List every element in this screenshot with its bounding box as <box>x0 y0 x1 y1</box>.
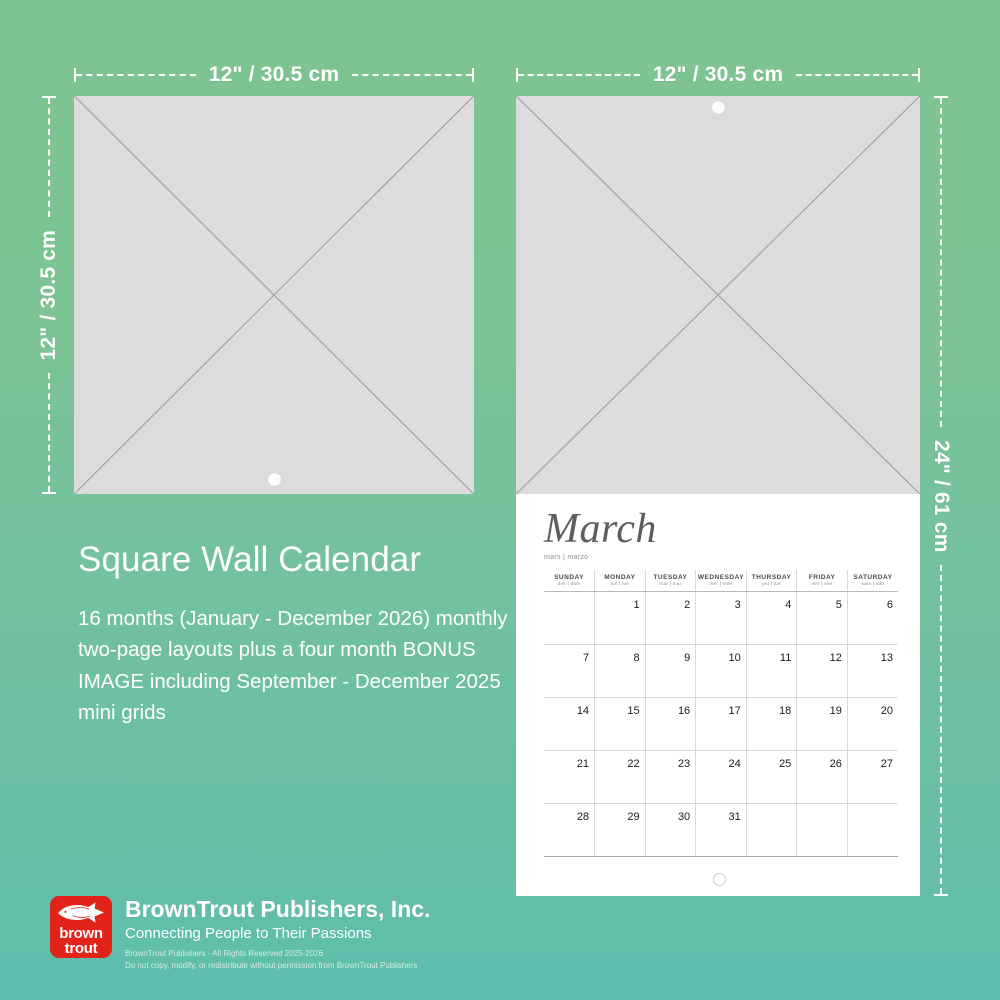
day-number: 27 <box>881 758 893 770</box>
dimension-right-panel-height: 24" / 61 cm <box>928 96 954 896</box>
punch-hole-icon <box>713 102 724 113</box>
page-title: Square Wall Calendar <box>78 540 421 580</box>
calendar-month-name: March <box>544 508 898 550</box>
calendar-weekday-header-row: SUNDAY dim | dom MONDAY lun | lun TUESDA… <box>544 570 898 592</box>
browntrout-logo: brown trout <box>50 896 112 958</box>
company-name: BrownTrout Publishers, Inc. <box>125 897 430 923</box>
weekday-subtitle: jeu | jue <box>747 582 797 588</box>
dimension-left-panel-width-label: 12" / 30.5 cm <box>196 63 352 87</box>
day-number: 28 <box>577 811 589 823</box>
dimension-dash-top <box>48 98 50 217</box>
calendar-day-cell: 15 <box>595 698 646 751</box>
day-number: 6 <box>887 599 893 611</box>
dimension-dash-left <box>76 74 196 76</box>
dimension-left-panel-height-label: 12" / 30.5 cm <box>37 217 61 373</box>
day-number: 5 <box>836 599 842 611</box>
calendar-day-cell: 4 <box>746 592 797 645</box>
day-number: 1 <box>634 599 640 611</box>
calendar-day-cell: 12 <box>797 645 848 698</box>
dimension-cap-bottom <box>934 894 948 896</box>
calendar-day-cell: 22 <box>595 751 646 804</box>
footer-branding: brown trout BrownTrout Publishers, Inc. … <box>50 896 430 971</box>
calendar-weekday-header: SUNDAY dim | dom <box>544 570 595 592</box>
weekday-name: SUNDAY <box>544 574 594 582</box>
day-number: 11 <box>780 652 791 664</box>
day-number: 15 <box>627 705 639 717</box>
calendar-day-cell: 25 <box>746 751 797 804</box>
calendar-week-row: 1 2 3 4 5 6 <box>544 592 898 645</box>
left-page-preview <box>74 96 474 494</box>
calendar-weekday-header: FRIDAY ven | vier <box>797 570 848 592</box>
calendar-day-cell: 26 <box>797 751 848 804</box>
trout-fish-svg <box>55 901 107 924</box>
calendar-weekday-header: WEDNESDAY mer | miér <box>696 570 747 592</box>
dimension-left-panel-height: 12" / 30.5 cm <box>36 96 62 494</box>
calendar-day-cell: 14 <box>544 698 595 751</box>
dimension-dash-right <box>796 74 918 76</box>
day-number: 18 <box>779 705 791 717</box>
day-number: 26 <box>830 758 842 770</box>
calendar-table: SUNDAY dim | dom MONDAY lun | lun TUESDA… <box>544 570 898 857</box>
calendar-day-cell <box>544 592 595 645</box>
weekday-name: MONDAY <box>595 574 645 582</box>
weekday-name: WEDNESDAY <box>696 574 746 582</box>
calendar-day-cell: 23 <box>645 751 696 804</box>
calendar-week-row: 21 22 23 24 25 26 27 <box>544 751 898 804</box>
day-number: 25 <box>779 758 791 770</box>
dimension-dash-right <box>352 74 472 76</box>
calendar-day-cell: 1 <box>595 592 646 645</box>
day-number: 14 <box>577 705 589 717</box>
product-mockup-canvas: 12" / 30.5 cm 12" / 30.5 cm 12" / 30.5 c… <box>0 0 1000 1000</box>
calendar-week-row: 14 15 16 17 18 19 20 <box>544 698 898 751</box>
calendar-weekday-header: MONDAY lun | lun <box>595 570 646 592</box>
dimension-right-panel-height-label: 24" / 61 cm <box>929 427 953 566</box>
weekday-subtitle: lun | lun <box>595 582 645 588</box>
calendar-day-cell: 18 <box>746 698 797 751</box>
weekday-subtitle: sam | sáb <box>848 582 898 588</box>
product-description: 16 months (January - December 2026) mont… <box>78 603 518 728</box>
brand-text-block: BrownTrout Publishers, Inc. Connecting P… <box>125 896 430 971</box>
day-number: 22 <box>627 758 639 770</box>
calendar-day-cell: 28 <box>544 804 595 857</box>
dimension-cap-end <box>472 68 474 82</box>
company-tagline: Connecting People to Their Passions <box>125 924 430 944</box>
calendar-day-cell: 5 <box>797 592 848 645</box>
dimension-left-panel-width: 12" / 30.5 cm <box>74 62 474 88</box>
calendar-content: March mars | marzo SUNDAY dim | dom MOND… <box>544 508 898 888</box>
legal-notice: BrownTrout Publishers - All Rights Reser… <box>125 948 430 971</box>
placeholder-cross-icon <box>516 96 920 494</box>
calendar-day-cell: 29 <box>595 804 646 857</box>
calendar-day-cell: 8 <box>595 645 646 698</box>
day-number: 7 <box>583 652 589 664</box>
day-number: 23 <box>678 758 690 770</box>
dimension-cap-bottom <box>42 492 56 494</box>
calendar-day-cell: 2 <box>645 592 696 645</box>
weekday-name: THURSDAY <box>747 574 797 582</box>
calendar-day-cell: 6 <box>847 592 898 645</box>
day-number: 29 <box>627 811 639 823</box>
day-number: 30 <box>678 811 690 823</box>
dimension-right-panel-width: 12" / 30.5 cm <box>516 62 920 88</box>
calendar-day-cell: 13 <box>847 645 898 698</box>
calendar-day-cell: 11 <box>746 645 797 698</box>
calendar-day-cell: 19 <box>797 698 848 751</box>
logo-word-trout: trout <box>50 941 112 956</box>
calendar-week-row: 7 8 9 10 11 12 13 <box>544 645 898 698</box>
day-number: 20 <box>881 705 893 717</box>
legal-line-2: Do not copy, modify, or redistribute wit… <box>125 960 430 972</box>
calendar-month-subtitle: mars | marzo <box>544 554 898 561</box>
calendar-day-cell <box>746 804 797 857</box>
day-number: 3 <box>735 599 741 611</box>
day-number: 21 <box>577 758 589 770</box>
weekday-subtitle: mar | mar <box>646 582 696 588</box>
weekday-subtitle: mer | miér <box>696 582 746 588</box>
day-number: 16 <box>678 705 690 717</box>
calendar-day-cell: 10 <box>696 645 747 698</box>
calendar-week-row: 28 29 30 31 <box>544 804 898 857</box>
day-number: 8 <box>634 652 640 664</box>
calendar-day-cell: 9 <box>645 645 696 698</box>
calendar-day-cell: 21 <box>544 751 595 804</box>
day-number: 17 <box>729 705 741 717</box>
calendar-weekday-header: THURSDAY jeu | jue <box>746 570 797 592</box>
calendar-grid-page: March mars | marzo SUNDAY dim | dom MOND… <box>516 494 920 896</box>
calendar-day-cell: 27 <box>847 751 898 804</box>
weekday-subtitle: ven | vier <box>797 582 847 588</box>
calendar-weekday-header: TUESDAY mar | mar <box>645 570 696 592</box>
punch-hole-icon <box>269 474 280 485</box>
dimension-right-panel-width-label: 12" / 30.5 cm <box>640 63 796 87</box>
calendar-day-cell <box>847 804 898 857</box>
calendar-day-cell: 3 <box>696 592 747 645</box>
logo-word-brown: brown <box>50 926 112 941</box>
right-page-image-preview <box>516 96 920 494</box>
calendar-day-cell: 20 <box>847 698 898 751</box>
dimension-cap-end <box>918 68 920 82</box>
legal-line-1: BrownTrout Publishers - All Rights Reser… <box>125 948 430 960</box>
day-number: 31 <box>729 811 741 823</box>
day-number: 13 <box>881 652 893 664</box>
weekday-name: SATURDAY <box>848 574 898 582</box>
calendar-day-cell: 31 <box>696 804 747 857</box>
calendar-day-cell: 17 <box>696 698 747 751</box>
dimension-dash-top <box>940 98 942 427</box>
calendar-day-cell: 16 <box>645 698 696 751</box>
day-number: 24 <box>729 758 741 770</box>
calendar-day-cell: 7 <box>544 645 595 698</box>
trout-fish-icon <box>55 901 107 924</box>
day-number: 2 <box>684 599 690 611</box>
weekday-name: TUESDAY <box>646 574 696 582</box>
calendar-day-cell <box>797 804 848 857</box>
dimension-dash-bottom <box>940 565 942 894</box>
day-number: 19 <box>830 705 842 717</box>
calendar-weekday-header: SATURDAY sam | sáb <box>847 570 898 592</box>
weekday-subtitle: dim | dom <box>544 582 594 588</box>
calendar-day-cell: 30 <box>645 804 696 857</box>
day-number: 4 <box>785 599 791 611</box>
placeholder-cross-icon <box>74 96 474 494</box>
day-number: 9 <box>684 652 690 664</box>
dimension-dash-left <box>518 74 640 76</box>
punch-hole-icon <box>713 873 726 886</box>
weekday-name: FRIDAY <box>797 574 847 582</box>
day-number: 12 <box>830 652 842 664</box>
day-number: 10 <box>729 652 741 664</box>
dimension-dash-bottom <box>48 373 50 492</box>
calendar-day-cell: 24 <box>696 751 747 804</box>
